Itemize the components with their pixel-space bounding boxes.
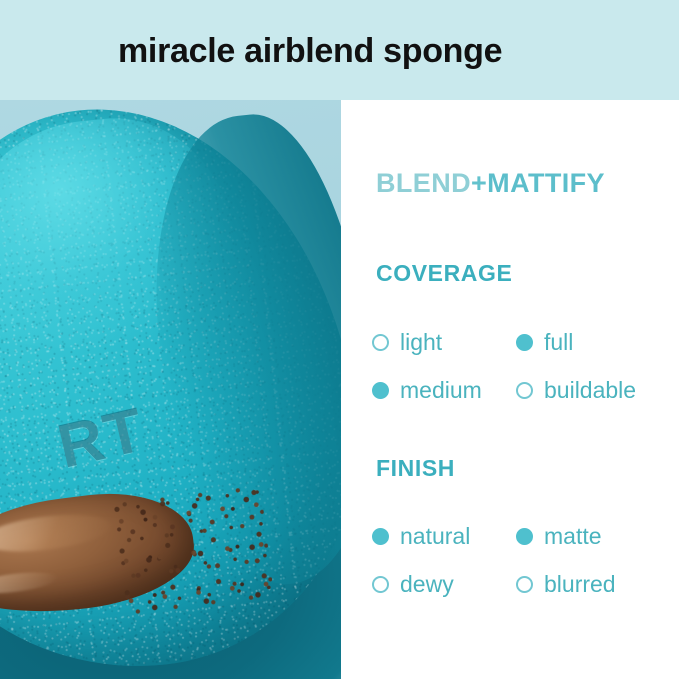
swatch-gloss-highlight — [0, 508, 113, 557]
option-light[interactable]: light — [372, 331, 516, 354]
swatch-gloss-highlight-secondary — [0, 569, 58, 597]
product-tagline: BLEND+MATTIFY — [376, 168, 605, 199]
tagline-plus-symbol: + — [471, 168, 487, 198]
radio-icon-natural[interactable] — [372, 528, 389, 545]
tagline-blend: BLEND — [376, 168, 471, 198]
option-full[interactable]: full — [516, 331, 672, 354]
radio-icon-matte[interactable] — [516, 528, 533, 545]
option-label: blurred — [544, 573, 616, 596]
option-label: full — [544, 331, 573, 354]
finish-options: natural matte dewy blurred — [372, 512, 672, 608]
radio-icon-medium[interactable] — [372, 382, 389, 399]
radio-icon-dewy[interactable] — [372, 576, 389, 593]
section-heading-finish: FINISH — [376, 455, 455, 482]
foundation-speckles — [111, 483, 274, 618]
option-matte[interactable]: matte — [516, 525, 672, 548]
option-label: natural — [400, 525, 470, 548]
tagline-mattify: MATTIFY — [487, 168, 605, 198]
option-medium[interactable]: medium — [372, 379, 516, 402]
option-natural[interactable]: natural — [372, 525, 516, 548]
header-band: miracle airblend sponge — [0, 0, 679, 100]
option-blurred[interactable]: blurred — [516, 573, 672, 596]
option-label: matte — [544, 525, 602, 548]
product-photo: RT — [0, 100, 341, 679]
coverage-options: light full medium buildable — [372, 318, 672, 414]
radio-icon-light[interactable] — [372, 334, 389, 351]
section-heading-coverage: COVERAGE — [376, 260, 512, 287]
spec-panel: BLEND+MATTIFY COVERAGE light full medium — [341, 100, 679, 679]
product-infographic: miracle airblend sponge RT BLEND+MATTIFY… — [0, 0, 679, 679]
option-dewy[interactable]: dewy — [372, 573, 516, 596]
option-buildable[interactable]: buildable — [516, 379, 672, 402]
radio-icon-buildable[interactable] — [516, 382, 533, 399]
option-label: light — [400, 331, 442, 354]
option-row: medium buildable — [372, 366, 672, 414]
option-row: natural matte — [372, 512, 672, 560]
page-title: miracle airblend sponge — [118, 34, 502, 68]
option-row: light full — [372, 318, 672, 366]
option-label: medium — [400, 379, 482, 402]
radio-icon-blurred[interactable] — [516, 576, 533, 593]
option-label: buildable — [544, 379, 636, 402]
option-label: dewy — [400, 573, 454, 596]
radio-icon-full[interactable] — [516, 334, 533, 351]
option-row: dewy blurred — [372, 560, 672, 608]
